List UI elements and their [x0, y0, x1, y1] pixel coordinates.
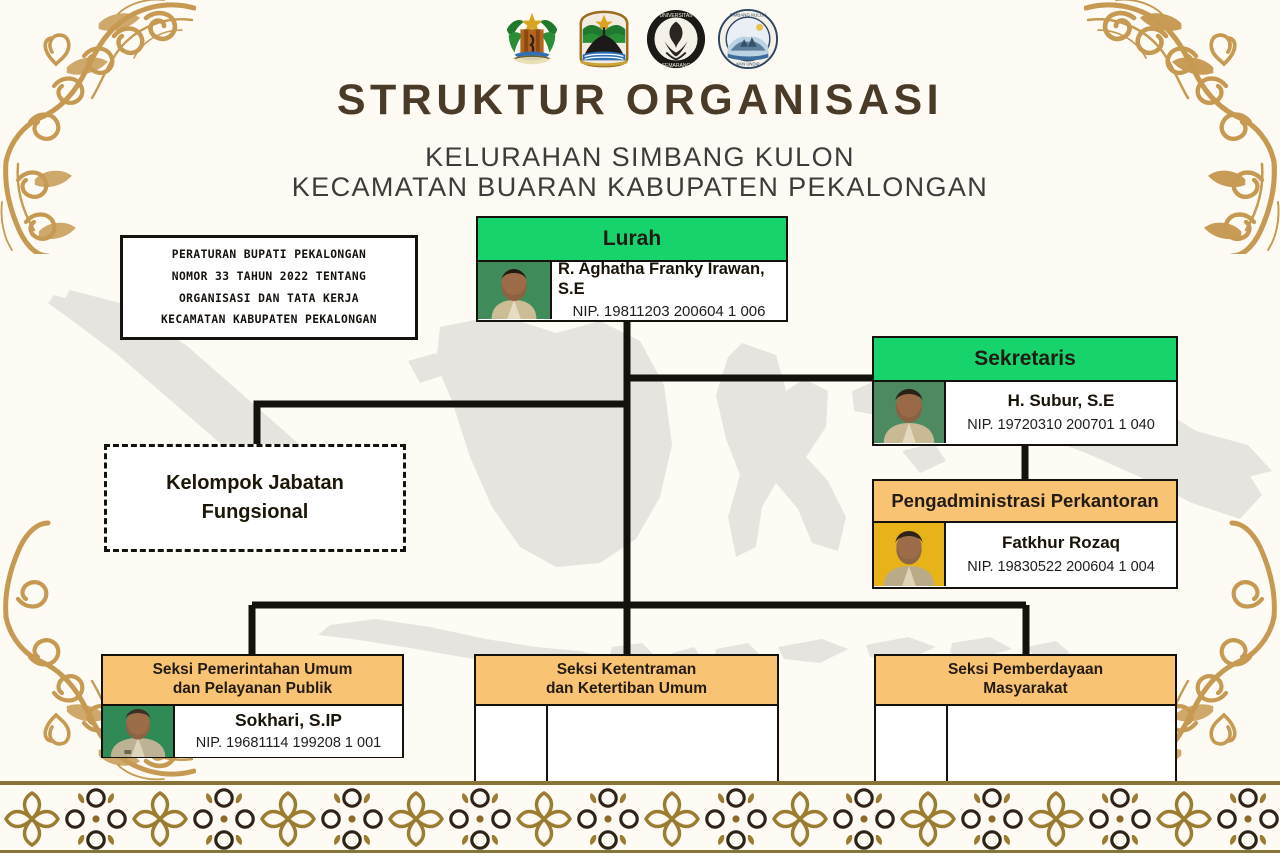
- officer-nip: NIP. 19681114 199208 1 001: [196, 735, 381, 752]
- officer-name: H. Subur, S.E: [1008, 391, 1115, 411]
- officer-info: H. Subur, S.E NIP. 19720310 200701 1 040: [946, 382, 1176, 443]
- officer-info: Fatkhur Rozaq NIP. 19830522 200604 1 004: [946, 523, 1176, 586]
- central-java-province-emblem-logo: [573, 8, 635, 70]
- diponegoro-university-logo: UNIVERSITAS SEMARANG: [645, 8, 707, 70]
- simbang-kulon-village-logo: SIMBANG KULON KKN UNDIP: [717, 8, 779, 70]
- node-lurah[interactable]: Lurah R. Aghatha Franky Irawan, S.E NIP.…: [476, 216, 788, 322]
- officer-name: Fatkhur Rozaq: [1002, 533, 1120, 553]
- officer-photo: [874, 523, 946, 586]
- regulation-line: NOMOR 33 TAHUN 2022 TENTANG: [172, 266, 366, 288]
- subtitle-line-1: KELURAHAN SIMBANG KULON: [0, 142, 1280, 173]
- node-pengadministrasi-title: Pengadministrasi Perkantoran: [874, 481, 1176, 523]
- page-title: STRUKTUR ORGANISASI: [0, 76, 1280, 125]
- svg-text:SIMBANG KULON: SIMBANG KULON: [730, 13, 767, 18]
- seksi-title-line-1: Seksi Ketentraman: [557, 661, 697, 680]
- seksi-title-line-2: dan Ketertiban Umum: [546, 680, 707, 699]
- regulation-reference-box: PERATURAN BUPATI PEKALONGAN NOMOR 33 TAH…: [120, 235, 418, 340]
- svg-text:KKN UNDIP: KKN UNDIP: [736, 62, 759, 67]
- node-seksi-title: Seksi Pemerintahan Umum dan Pelayanan Pu…: [103, 656, 402, 706]
- node-pengadministrasi-body: Fatkhur Rozaq NIP. 19830522 200604 1 004: [874, 523, 1176, 586]
- pekalongan-regency-emblem-logo: [501, 8, 563, 70]
- node-seksi-title: Seksi Pemberdayaan Masyarakat: [876, 656, 1175, 706]
- officer-name: Sokhari, S.IP: [235, 710, 342, 731]
- batik-motif-svg: [0, 785, 1280, 853]
- seksi-title-line-1: Seksi Pemerintahan Umum: [153, 661, 353, 680]
- kjf-line-2: Fungsional: [202, 498, 309, 527]
- emblem-logo-row: UNIVERSITAS SEMARANG SIMBANG KULON KKN U…: [0, 8, 1280, 70]
- officer-nip: NIP. 19830522 200604 1 004: [967, 559, 1155, 576]
- svg-text:SEMARANG: SEMARANG: [662, 63, 691, 69]
- organization-chart-poster: UNIVERSITAS SEMARANG SIMBANG KULON KKN U…: [0, 0, 1280, 853]
- seksi-title-line-2: dan Pelayanan Publik: [173, 680, 332, 699]
- node-sekretaris-body: H. Subur, S.E NIP. 19720310 200701 1 040: [874, 382, 1176, 443]
- node-sekretaris-title: Sekretaris: [874, 338, 1176, 382]
- officer-photo: [103, 706, 175, 757]
- officer-name: R. Aghatha Franky Irawan, S.E: [558, 260, 780, 300]
- officer-info: R. Aghatha Franky Irawan, S.E NIP. 19811…: [552, 262, 786, 319]
- seksi-title-line-2: Masyarakat: [983, 680, 1067, 699]
- node-seksi-title: Seksi Ketentraman dan Ketertiban Umum: [476, 656, 777, 706]
- node-seksi-body: Sokhari, S.IP NIP. 19681114 199208 1 001: [103, 706, 402, 757]
- batik-motif-band: [0, 785, 1280, 853]
- officer-photo: [874, 382, 946, 443]
- subtitle-line-2: KECAMATAN BUARAN KABUPATEN PEKALONGAN: [0, 172, 1280, 203]
- regulation-line: ORGANISASI DAN TATA KERJA: [179, 288, 359, 310]
- batik-floral-border: [0, 781, 1280, 853]
- node-kelompok-jabatan-fungsional[interactable]: Kelompok Jabatan Fungsional: [104, 444, 406, 552]
- regulation-line: PERATURAN BUPATI PEKALONGAN: [172, 244, 366, 266]
- officer-nip: NIP. 19720310 200701 1 040: [967, 417, 1155, 434]
- officer-photo: [478, 262, 552, 319]
- node-seksi-pemerintahan-umum[interactable]: Seksi Pemerintahan Umum dan Pelayanan Pu…: [101, 654, 404, 758]
- node-lurah-title: Lurah: [478, 218, 786, 262]
- regulation-line: KECAMATAN KABUPATEN PEKALONGAN: [161, 309, 377, 331]
- node-pengadministrasi-perkantoran[interactable]: Pengadministrasi Perkantoran Fatkhur Roz…: [872, 479, 1178, 589]
- node-sekretaris[interactable]: Sekretaris H. Subur, S.E NIP. 19720310 2…: [872, 336, 1178, 446]
- kjf-line-1: Kelompok Jabatan: [166, 469, 344, 498]
- officer-nip: NIP. 19811203 200604 1 006: [573, 303, 766, 321]
- svg-text:UNIVERSITAS: UNIVERSITAS: [659, 13, 693, 19]
- node-lurah-body: R. Aghatha Franky Irawan, S.E NIP. 19811…: [478, 262, 786, 319]
- seksi-title-line-1: Seksi Pemberdayaan: [948, 661, 1103, 680]
- officer-info: Sokhari, S.IP NIP. 19681114 199208 1 001: [175, 706, 402, 757]
